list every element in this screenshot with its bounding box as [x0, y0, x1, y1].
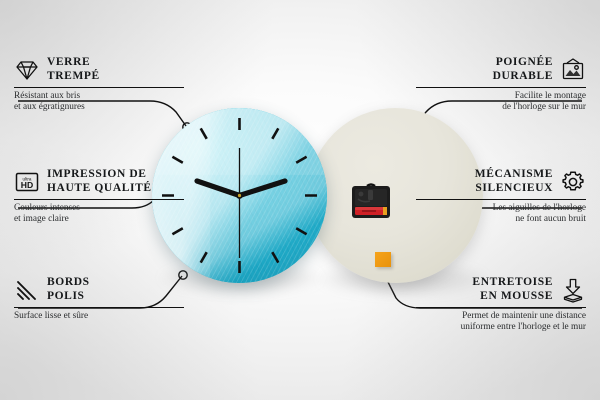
feature-title-line1: POIGNÉE [493, 56, 553, 70]
quartz-movement-box [350, 183, 392, 221]
feature-sub-line2: et aux égratignures [14, 102, 184, 113]
feature-title-line2: POLIS [47, 290, 90, 304]
feature-entretoise-en-mousse: ENTRETOISE EN MOUSSE Permet de maintenir… [416, 276, 586, 333]
feature-title: POIGNÉE DURABLE [493, 56, 553, 83]
feature-subtitle: Surface lisse et sûre [14, 311, 184, 322]
feature-subtitle: Couleurs intenses et image claire [14, 203, 184, 225]
feature-mecanisme-silencieux: MÉCANISME SILENCIEUX Les aiguilles de l'… [416, 168, 586, 225]
gear-icon [560, 169, 586, 195]
feature-header: POIGNÉE DURABLE [416, 56, 586, 83]
feature-bords-polis: BORDS POLIS Surface lisse et sûre [14, 276, 184, 322]
feature-sub-line1: Permet de maintenir une distance [416, 311, 586, 322]
feature-title-line1: VERRE [47, 56, 100, 70]
feature-header: ENTRETOISE EN MOUSSE [416, 276, 586, 303]
feature-subtitle: Facilite le montage de l'horloge sur le … [416, 91, 586, 113]
polished-edges-icon [14, 277, 40, 303]
feature-title-line1: MÉCANISME [475, 168, 553, 182]
feature-title-line2: SILENCIEUX [475, 182, 553, 196]
feature-divider [416, 307, 586, 308]
feature-sub-line2: ne font aucun bruit [416, 214, 586, 225]
feature-title-line2: EN MOUSSE [472, 290, 553, 304]
diamond-icon [14, 57, 40, 83]
feature-divider [14, 87, 184, 88]
feature-impression-haute-qualite: ultra HD IMPRESSION DE HAUTE QUALITÉ Cou… [14, 168, 184, 225]
feature-header: BORDS POLIS [14, 276, 184, 303]
feature-subtitle: Résistant aux bris et aux égratignures [14, 91, 184, 113]
svg-text:HD: HD [21, 180, 33, 190]
feature-header: VERRE TREMPÉ [14, 56, 184, 83]
feature-sub-line1: Surface lisse et sûre [14, 311, 184, 322]
feature-divider [14, 199, 184, 200]
feature-subtitle: Permet de maintenir une distance uniform… [416, 311, 586, 333]
feature-title: VERRE TREMPÉ [47, 56, 100, 83]
feature-title-line1: BORDS [47, 276, 90, 290]
feature-poignee-durable: POIGNÉE DURABLE Facilite le montage de l… [416, 56, 586, 113]
foam-spacer-arrow-icon [560, 277, 586, 303]
feature-sub-line1: Couleurs intenses [14, 203, 184, 214]
ultra-hd-badge-icon: ultra HD [14, 169, 40, 195]
feature-sub-line2: de l'horloge sur le mur [416, 102, 586, 113]
product-infographic: VERRE TREMPÉ Résistant aux bris et aux é… [0, 0, 600, 400]
feature-divider [416, 87, 586, 88]
feature-title: ENTRETOISE EN MOUSSE [472, 276, 553, 303]
feature-subtitle: Les aiguilles de l'horloge ne font aucun… [416, 203, 586, 225]
feature-sub-line1: Les aiguilles de l'horloge [416, 203, 586, 214]
feature-divider [416, 199, 586, 200]
feature-title-line2: DURABLE [493, 70, 553, 84]
feature-title: IMPRESSION DE HAUTE QUALITÉ [47, 168, 152, 195]
feature-title-line1: IMPRESSION DE [47, 168, 152, 182]
feature-sub-line2: et image claire [14, 214, 184, 225]
feature-title: BORDS POLIS [47, 276, 90, 303]
feature-title-line1: ENTRETOISE [472, 276, 553, 290]
feature-sub-line1: Facilite le montage [416, 91, 586, 102]
feature-header: ultra HD IMPRESSION DE HAUTE QUALITÉ [14, 168, 184, 195]
feature-verre-trempe: VERRE TREMPÉ Résistant aux bris et aux é… [14, 56, 184, 113]
feature-header: MÉCANISME SILENCIEUX [416, 168, 586, 195]
feature-title: MÉCANISME SILENCIEUX [475, 168, 553, 195]
feature-sub-line1: Résistant aux bris [14, 91, 184, 102]
feature-title-line2: TREMPÉ [47, 70, 100, 84]
orange-foam-spacer [375, 252, 391, 267]
picture-frame-hanger-icon [560, 57, 586, 83]
feature-title-line2: HAUTE QUALITÉ [47, 182, 152, 196]
feature-divider [14, 307, 184, 308]
feature-sub-line2: uniforme entre l'horloge et le mur [416, 322, 586, 333]
